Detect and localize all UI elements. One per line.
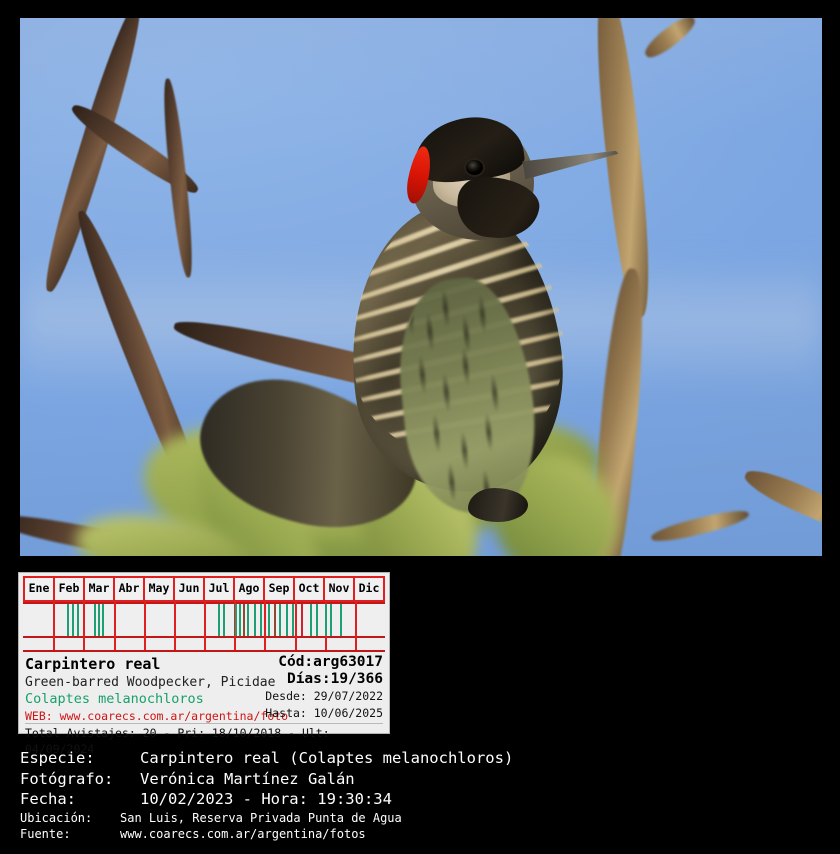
sighting-tick xyxy=(274,604,276,636)
meta-row-fuente: Fuente: www.coarecs.com.ar/argentina/fot… xyxy=(20,826,820,843)
month-separator xyxy=(204,638,206,650)
record-info: Carpintero real Cód:arg63017 Green-barre… xyxy=(19,652,389,757)
sightings-panel: Ene Feb Mar Abr May Jun Jul Ago Sep Oct … xyxy=(18,572,390,734)
sighting-tick xyxy=(72,604,74,636)
bird-eye xyxy=(466,160,483,175)
sighting-tick xyxy=(254,604,256,636)
desde-date: Desde: 29/07/2022 xyxy=(265,688,383,704)
month-separator xyxy=(355,638,357,650)
meta-label-fuente: Fuente: xyxy=(20,826,120,843)
month-separator xyxy=(53,638,55,650)
month-separator xyxy=(114,638,116,650)
photo-metadata: Especie: Carpintero real (Colaptes melan… xyxy=(20,748,820,843)
meta-row-fecha: Fecha: 10/02/2023 - Hora: 19:30:34 xyxy=(20,789,820,810)
sighting-tick xyxy=(77,604,79,636)
month-cell-jul: Jul xyxy=(205,578,235,600)
sighting-tick xyxy=(102,604,104,636)
meta-row-fotografo: Fotógrafo: Verónica Martínez Galán xyxy=(20,769,820,790)
sighting-tick xyxy=(292,604,294,636)
sighting-tick xyxy=(325,604,327,636)
meta-value-fuente[interactable]: www.coarecs.com.ar/argentina/fotos xyxy=(120,826,366,843)
month-cell-dic: Dic xyxy=(355,578,383,600)
month-separator xyxy=(83,602,85,638)
sighting-tick xyxy=(279,604,281,636)
month-cell-sep: Sep xyxy=(265,578,295,600)
month-separator xyxy=(234,638,236,650)
sighting-tick xyxy=(243,604,245,636)
row-web: WEB: www.coarecs.com.ar/argentina/foto H… xyxy=(25,705,383,722)
screenshot-root: Ene Feb Mar Abr May Jun Jul Ago Sep Oct … xyxy=(0,0,840,854)
row-scientific-name: Colaptes melanochloros Desde: 29/07/2022 xyxy=(25,688,383,705)
sighting-tick xyxy=(310,604,312,636)
meta-label-ubicacion: Ubicación: xyxy=(20,810,120,827)
month-separator xyxy=(295,602,297,638)
month-separator xyxy=(144,638,146,650)
meta-value-fecha: 10/02/2023 - Hora: 19:30:34 xyxy=(140,789,392,810)
sighting-tick xyxy=(340,604,342,636)
meta-value-especie: Carpintero real (Colaptes melanochloros) xyxy=(140,748,513,769)
meta-value-fotografo: Verónica Martínez Galán xyxy=(140,769,355,790)
month-cell-oct: Oct xyxy=(295,578,325,600)
month-separator xyxy=(144,602,146,638)
sighting-tick xyxy=(223,604,225,636)
bird-foot xyxy=(468,488,528,522)
timeline-footer-rule xyxy=(23,638,385,652)
month-cell-ago: Ago xyxy=(235,578,265,600)
meta-row-especie: Especie: Carpintero real (Colaptes melan… xyxy=(20,748,820,769)
month-cell-nov: Nov xyxy=(325,578,355,600)
hasta-date: Hasta: 10/06/2025 xyxy=(265,705,383,721)
month-separator xyxy=(295,638,297,650)
web-link[interactable]: WEB: www.coarecs.com.ar/argentina/foto xyxy=(25,709,288,723)
sighting-tick xyxy=(330,604,332,636)
meta-row-ubicacion: Ubicación: San Luis, Reserva Privada Pun… xyxy=(20,810,820,827)
days-count: Días:19/366 xyxy=(287,671,383,688)
month-cell-feb: Feb xyxy=(55,578,85,600)
month-separator xyxy=(174,602,176,638)
row-english-name: Green-barred Woodpecker, Picidae Días:19… xyxy=(25,671,383,688)
month-cell-may: May xyxy=(145,578,175,600)
month-cell-abr: Abr xyxy=(115,578,145,600)
sighting-tick xyxy=(218,604,220,636)
month-cell-ene: Ene xyxy=(25,578,55,600)
record-code: Cód:arg63017 xyxy=(278,654,383,671)
sighting-tick xyxy=(94,604,96,636)
sighting-tick xyxy=(260,604,262,636)
bird-photo xyxy=(20,18,822,556)
month-separator xyxy=(114,602,116,638)
sighting-tick xyxy=(316,604,318,636)
month-separator xyxy=(264,638,266,650)
month-separator xyxy=(53,602,55,638)
sighting-tick xyxy=(235,604,237,636)
month-separator xyxy=(83,638,85,650)
month-cell-jun: Jun xyxy=(175,578,205,600)
meta-value-ubicacion: San Luis, Reserva Privada Punta de Agua xyxy=(120,810,402,827)
sighting-tick xyxy=(301,604,303,636)
row-common-name: Carpintero real Cód:arg63017 xyxy=(25,654,383,671)
month-separator xyxy=(264,602,266,638)
month-cell-mar: Mar xyxy=(85,578,115,600)
sighting-tick xyxy=(268,604,270,636)
meta-label-especie: Especie: xyxy=(20,748,140,769)
sighting-tick xyxy=(286,604,288,636)
meta-label-fecha: Fecha: xyxy=(20,789,140,810)
month-separator xyxy=(174,638,176,650)
month-separator xyxy=(355,602,357,638)
sighting-tick xyxy=(239,604,241,636)
month-separator xyxy=(204,602,206,638)
meta-label-fotografo: Fotógrafo: xyxy=(20,769,140,790)
month-header-row: Ene Feb Mar Abr May Jun Jul Ago Sep Oct … xyxy=(23,576,385,602)
month-separator xyxy=(325,638,327,650)
sighting-tick xyxy=(247,604,249,636)
sightings-timeline xyxy=(23,602,385,638)
sighting-tick xyxy=(98,604,100,636)
sighting-tick xyxy=(67,604,69,636)
